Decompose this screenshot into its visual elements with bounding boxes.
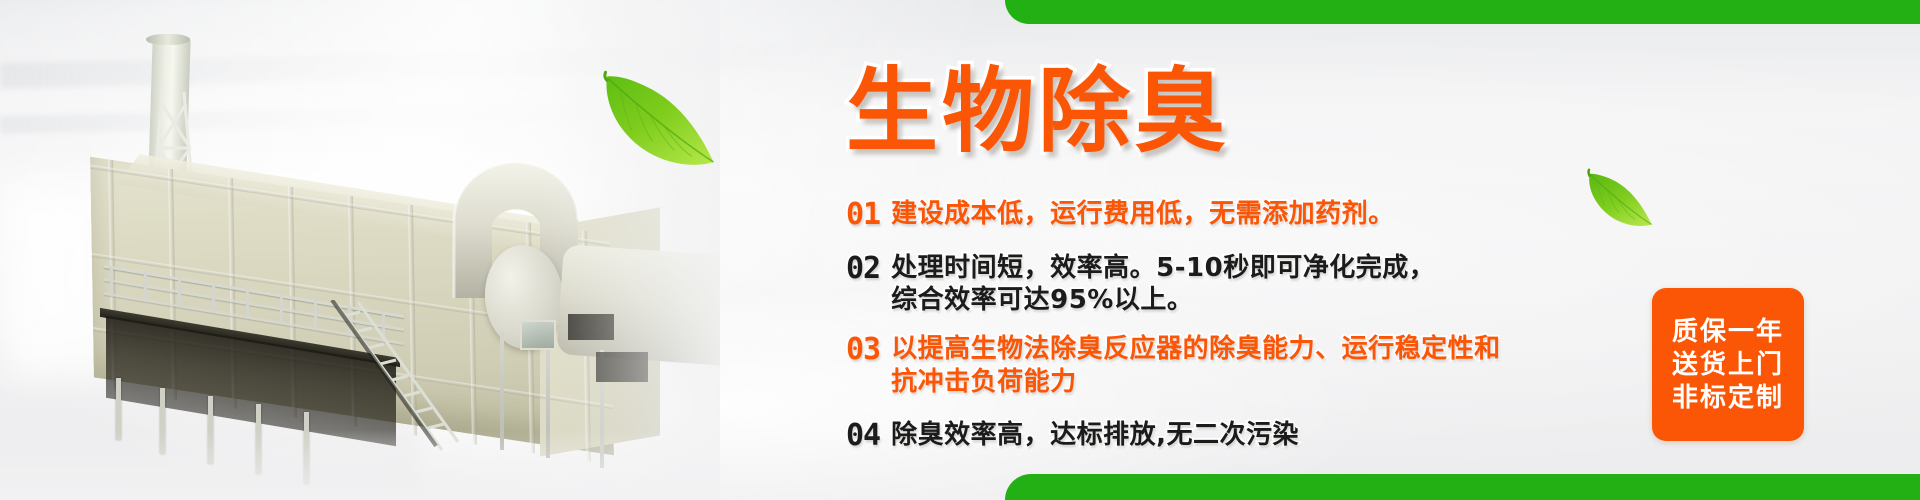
green-ribbon-top xyxy=(1005,0,1920,24)
feature-text-line: 处理时间短，效率高。5-10秒即可净化完成， xyxy=(891,252,1435,285)
feature-item-02: 02 处理时间短，效率高。5-10秒即可净化完成， 综合效率可达95%以上。 xyxy=(846,252,1576,318)
leaf-icon xyxy=(588,66,725,183)
feature-item-01: 01 建设成本低，运行费用低，无需添加药剂。 xyxy=(846,198,1576,232)
feature-item-04: 04 除臭效率高，达标排放,无二次污染 xyxy=(846,419,1576,453)
badge-line-warranty: 质保一年 xyxy=(1672,319,1784,345)
feature-text-line: 除臭效率高，达标排放,无二次污染 xyxy=(891,419,1299,452)
service-guarantee-badge: 质保一年 送货上门 非标定制 xyxy=(1652,288,1804,441)
feature-text: 以提高生物法除臭反应器的除臭能力、运行稳定性和 抗冲击负荷能力 xyxy=(891,333,1501,399)
badge-line-custom: 非标定制 xyxy=(1672,385,1784,411)
feature-text: 处理时间短，效率高。5-10秒即可净化完成， 综合效率可达95%以上。 xyxy=(891,252,1435,318)
feature-list: 01 建设成本低，运行费用低，无需添加药剂。 02 处理时间短，效率高。5-10… xyxy=(846,198,1576,452)
feature-text: 建设成本低，运行费用低，无需添加药剂。 xyxy=(891,198,1395,231)
feature-number: 03 xyxy=(846,333,880,367)
page-title: 生物除臭 xyxy=(846,66,1230,158)
feature-number: 01 xyxy=(846,198,880,232)
feature-number: 04 xyxy=(846,419,880,453)
product-banner: 生物除臭 01 建设成本低，运行费用低，无需添加药剂。 02 处理时间短，效率高… xyxy=(0,0,1920,500)
chimney-cap xyxy=(146,34,190,45)
feature-text: 除臭效率高，达标排放,无二次污染 xyxy=(891,419,1299,452)
feature-text-line: 建设成本低，运行费用低，无需添加药剂。 xyxy=(891,198,1395,231)
feature-item-03: 03 以提高生物法除臭反应器的除臭能力、运行稳定性和 抗冲击负荷能力 xyxy=(846,333,1576,399)
green-ribbon-bottom xyxy=(1005,474,1920,500)
feature-text-line: 抗冲击负荷能力 xyxy=(891,366,1501,399)
feature-text-line: 综合效率可达95%以上。 xyxy=(891,284,1435,317)
photo-bottom-fade xyxy=(0,430,720,500)
feature-text-line: 以提高生物法除臭反应器的除臭能力、运行稳定性和 xyxy=(891,333,1501,366)
leaf-icon xyxy=(1577,166,1661,236)
feature-number: 02 xyxy=(846,252,880,286)
badge-line-delivery: 送货上门 xyxy=(1672,352,1784,378)
